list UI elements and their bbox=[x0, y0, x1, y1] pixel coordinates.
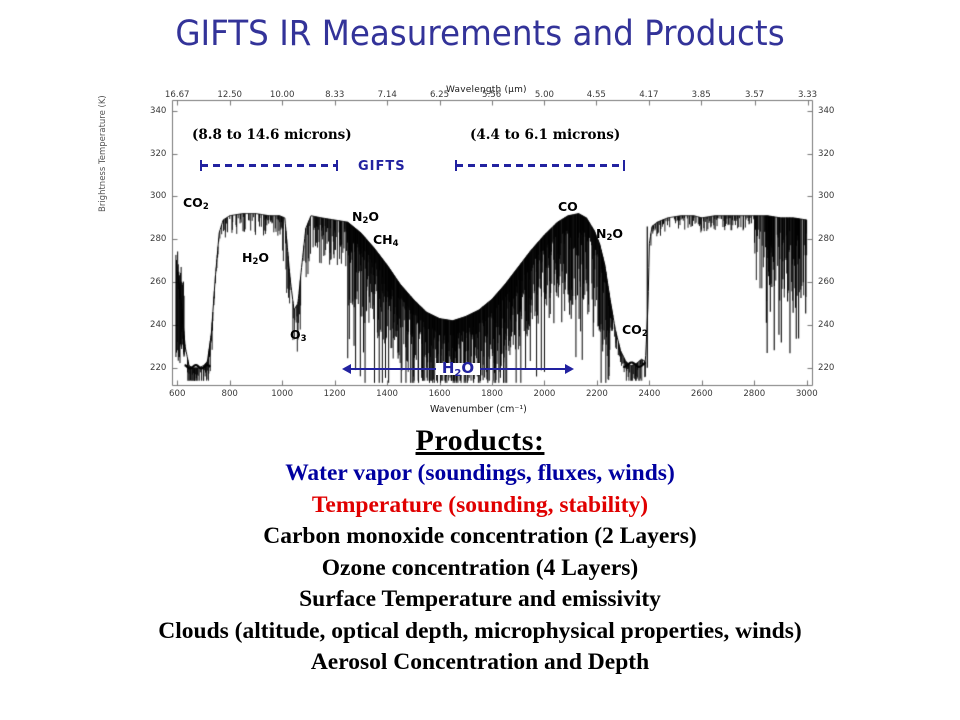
products-section: Products: Water vapor (soundings, fluxes… bbox=[0, 424, 960, 679]
top-ticks-11: 3.57 bbox=[745, 90, 764, 100]
band-dashes bbox=[456, 164, 624, 167]
product-line-3: Ozone concentration (4 Layers) bbox=[0, 553, 960, 585]
bottom-ticks-5: 1600 bbox=[429, 389, 451, 399]
y-axis-title: Brightness Temperature (K) bbox=[98, 95, 108, 212]
products-list: Water vapor (soundings, fluxes, winds)Te… bbox=[0, 458, 960, 679]
top-ticks-7: 5.00 bbox=[535, 90, 554, 100]
right-ticks-3: 280 bbox=[818, 234, 834, 244]
top-ticks-5: 6.25 bbox=[430, 90, 449, 100]
top-ticks-2: 10.00 bbox=[270, 90, 295, 100]
product-line-4: Surface Temperature and emissivity bbox=[0, 584, 960, 616]
products-heading: Products: bbox=[0, 424, 960, 458]
right-ticks-5: 320 bbox=[818, 149, 834, 159]
left-ticks-6: 340 bbox=[150, 106, 166, 116]
molecule-label-n2o-right: N2O bbox=[596, 226, 623, 241]
left-ticks-4: 300 bbox=[150, 191, 166, 201]
molecule-label-n2o: N2O bbox=[352, 209, 379, 224]
bottom-ticks-11: 2800 bbox=[743, 389, 765, 399]
bottom-ticks-6: 1800 bbox=[481, 389, 503, 399]
top-ticks-6: 5.56 bbox=[482, 90, 501, 100]
bottom-ticks-8: 2200 bbox=[586, 389, 608, 399]
left-ticks-0: 220 bbox=[150, 363, 166, 373]
band-cap-right bbox=[623, 160, 625, 171]
bottom-ticks-10: 2600 bbox=[691, 389, 713, 399]
molecule-label-o3: O3 bbox=[290, 327, 307, 342]
h2o-span-label: H2O bbox=[442, 359, 474, 377]
top-ticks-0: 16.67 bbox=[165, 90, 190, 100]
top-ticks-3: 8.33 bbox=[325, 90, 344, 100]
bottom-ticks-9: 2400 bbox=[638, 389, 660, 399]
bottom-ticks-1: 800 bbox=[222, 389, 238, 399]
left-ticks-1: 240 bbox=[150, 320, 166, 330]
molecule-label-h2o: H2O bbox=[242, 250, 269, 265]
right-ticks-4: 300 bbox=[818, 191, 834, 201]
bottom-ticks-0: 600 bbox=[169, 389, 185, 399]
product-line-6: Aerosol Concentration and Depth bbox=[0, 647, 960, 679]
bottom-ticks-12: 3000 bbox=[796, 389, 818, 399]
bottom-axis-title: Wavenumber (cm⁻¹) bbox=[430, 404, 527, 415]
top-ticks-1: 12.50 bbox=[217, 90, 242, 100]
right-ticks-6: 340 bbox=[818, 106, 834, 116]
band-caption-0: (8.8 to 14.6 microns) bbox=[192, 127, 352, 143]
bottom-ticks-2: 1000 bbox=[271, 389, 293, 399]
molecule-label-co: CO bbox=[558, 199, 578, 214]
band-range-bar-1 bbox=[455, 160, 625, 171]
bottom-ticks-4: 1400 bbox=[376, 389, 398, 399]
band-dashes bbox=[201, 164, 337, 167]
band-range-bar-0 bbox=[200, 160, 338, 171]
right-ticks-1: 240 bbox=[818, 320, 834, 330]
right-ticks-0: 220 bbox=[818, 363, 834, 373]
band-cap-right bbox=[336, 160, 338, 171]
right-ticks-2: 260 bbox=[818, 277, 834, 287]
bottom-ticks-3: 1200 bbox=[324, 389, 346, 399]
left-ticks-5: 320 bbox=[150, 149, 166, 159]
molecule-label-ch4: CH4 bbox=[373, 232, 399, 247]
product-line-5: Clouds (altitude, optical depth, microph… bbox=[0, 616, 960, 648]
top-ticks-9: 4.17 bbox=[639, 90, 658, 100]
product-line-2: Carbon monoxide concentration (2 Layers) bbox=[0, 521, 960, 553]
left-ticks-2: 260 bbox=[150, 277, 166, 287]
molecule-label-co2-right: CO2 bbox=[622, 322, 648, 337]
left-ticks-3: 280 bbox=[150, 234, 166, 244]
spectrum-figure: Brightness Temperature (K) Wavelength (µ… bbox=[130, 82, 830, 422]
arrow-head-right-icon bbox=[565, 364, 574, 374]
gifts-band-label: GIFTS bbox=[358, 159, 406, 174]
top-ticks-12: 3.33 bbox=[798, 90, 817, 100]
band-caption-1: (4.4 to 6.1 microns) bbox=[470, 127, 620, 143]
product-line-0: Water vapor (soundings, fluxes, winds) bbox=[0, 458, 960, 490]
top-ticks-4: 7.14 bbox=[378, 90, 397, 100]
molecule-label-co2: CO2 bbox=[183, 195, 209, 210]
bottom-ticks-7: 2000 bbox=[534, 389, 556, 399]
page-title: GIFTS IR Measurements and Products bbox=[34, 14, 927, 54]
product-line-1: Temperature (sounding, stability) bbox=[0, 490, 960, 522]
top-ticks-10: 3.85 bbox=[692, 90, 711, 100]
top-ticks-8: 4.55 bbox=[587, 90, 606, 100]
